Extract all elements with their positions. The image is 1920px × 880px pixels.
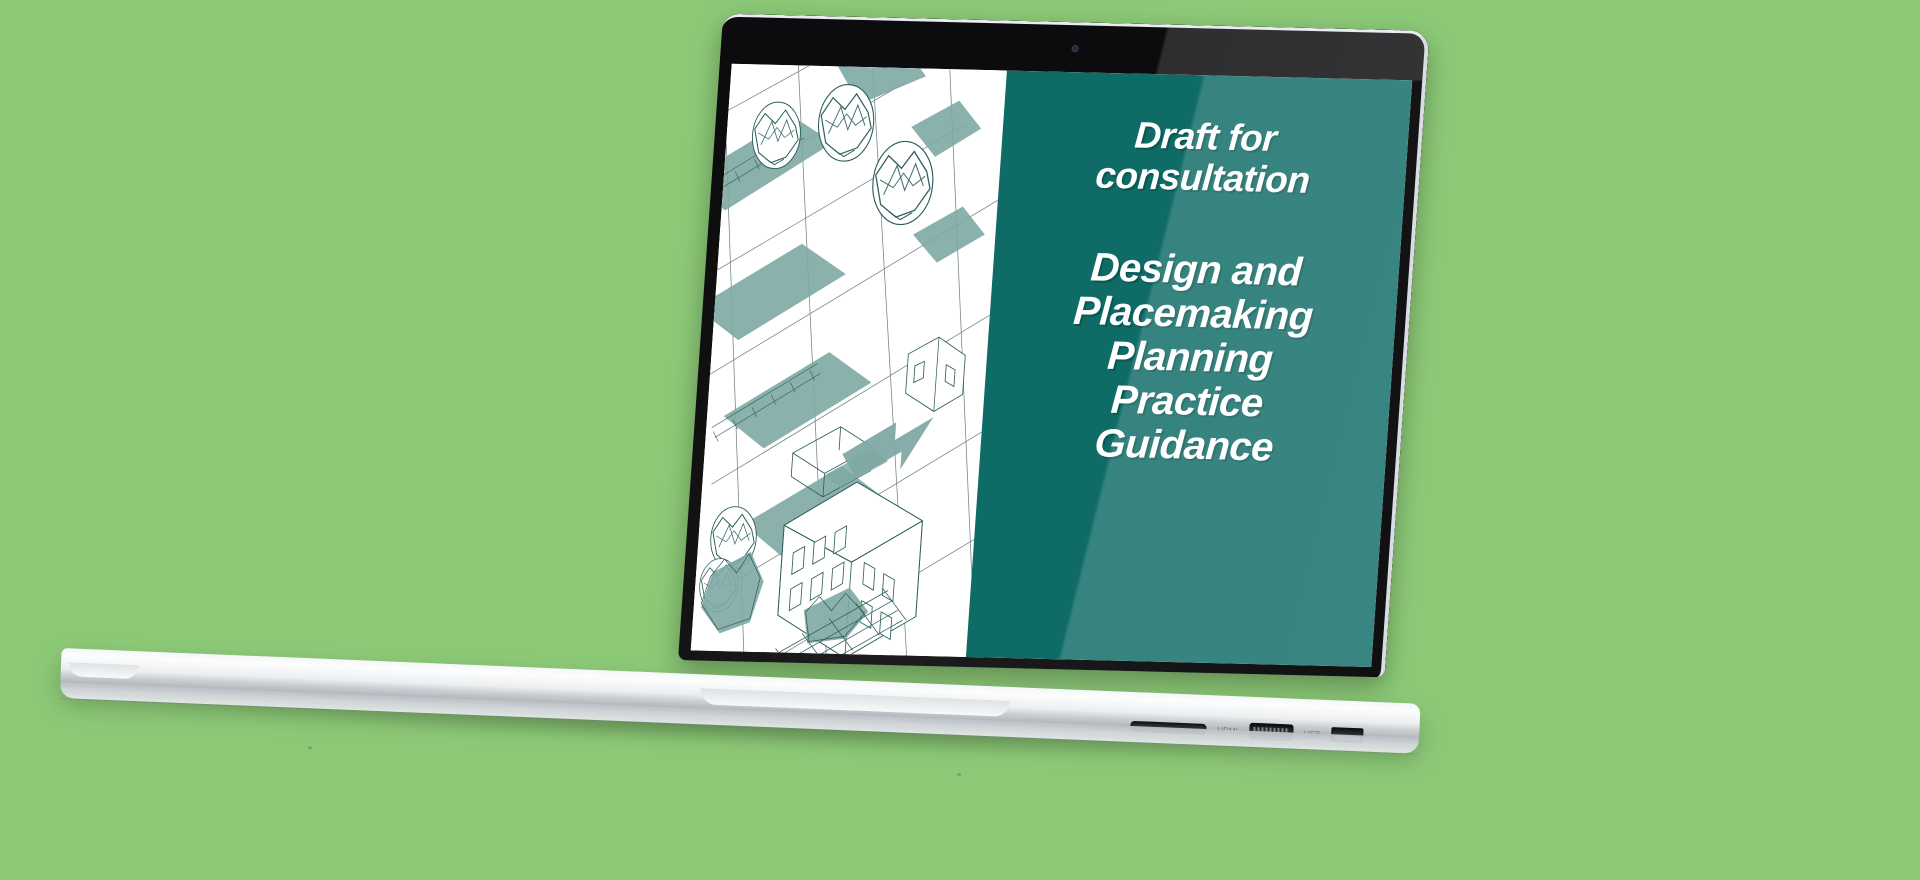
laptop-lid: Draft for consultation Design and Placem… [678,14,1430,678]
title-spacer [1198,199,1201,249]
slide-title-line-4: Practice [1110,378,1265,426]
slide-title-line-2: Placemaking [1072,289,1314,339]
laptop-lid-shell: Draft for consultation Design and Placem… [678,14,1430,678]
status-pinhole-right [957,773,961,776]
status-pinhole-left [308,746,312,749]
webcam-icon [1071,45,1078,52]
slide-header-line-1: Draft for [1133,116,1277,160]
slide-header-line-2: consultation [1094,155,1311,201]
slide-title-line-5: Guidance [1093,422,1274,470]
slide-illustration [691,64,1008,657]
scene-stage: Draft for consultation Design and Placem… [0,0,1920,880]
slide-title-panel: Draft for consultation Design and Placem… [966,70,1412,666]
slide-title-line-3: Planning [1106,334,1274,382]
slide-title-line-1: Design and [1089,246,1303,295]
laptop-screen: Draft for consultation Design and Placem… [691,64,1413,667]
base-edge-chamfer [69,662,140,679]
